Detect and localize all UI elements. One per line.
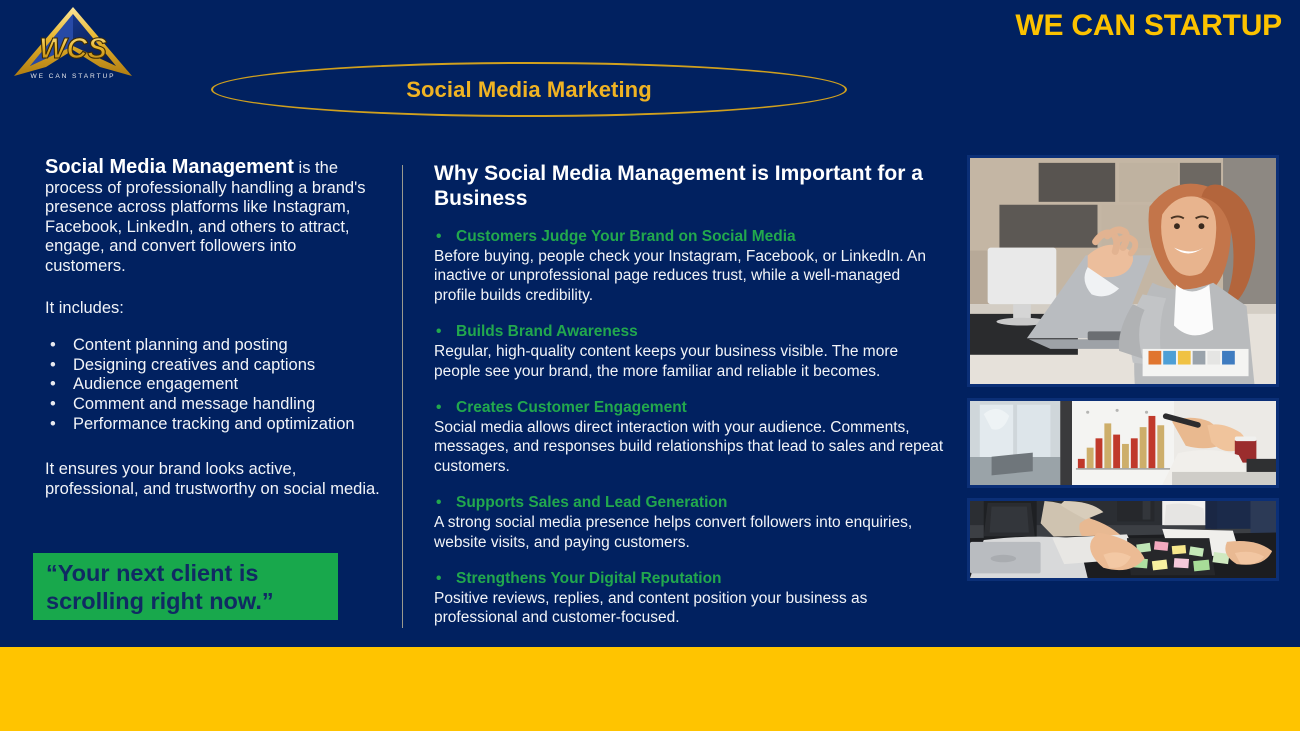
benefit-body: Before buying, people check your Instagr… bbox=[434, 247, 946, 305]
brand-wordmark: WE CAN STARTUP bbox=[1015, 9, 1282, 43]
bullet-icon: • bbox=[436, 493, 441, 512]
wcs-triangle-logo: WCS WE CAN STARTUP bbox=[8, 2, 138, 88]
benefit-point: •Builds Brand Awareness Regular, high-qu… bbox=[434, 322, 946, 381]
photo-woman-at-laptop bbox=[967, 155, 1279, 387]
list-item: •Performance tracking and optimization bbox=[45, 415, 380, 435]
benefit-body: Regular, high-quality content keeps your… bbox=[434, 342, 946, 381]
benefit-title: •Supports Sales and Lead Generation bbox=[434, 493, 946, 512]
bullet-icon: • bbox=[436, 227, 441, 246]
photo-team-sticky-notes bbox=[967, 498, 1279, 581]
list-item: •Comment and message handling bbox=[45, 395, 380, 415]
benefit-point: •Creates Customer Engagement Social medi… bbox=[434, 398, 946, 476]
svg-text:WCS: WCS bbox=[39, 33, 107, 65]
benefit-title-label: Supports Sales and Lead Generation bbox=[456, 494, 727, 511]
list-item-label: Designing creatives and captions bbox=[73, 356, 315, 374]
middle-column: Why Social Media Management is Important… bbox=[434, 161, 946, 628]
benefit-title-label: Builds Brand Awareness bbox=[456, 323, 638, 340]
list-item: •Designing creatives and captions bbox=[45, 356, 380, 376]
list-item-label: Audience engagement bbox=[73, 375, 238, 393]
bottom-accent-bar bbox=[0, 647, 1300, 731]
includes-label: It includes: bbox=[45, 299, 380, 319]
benefit-title-label: Strengthens Your Digital Reputation bbox=[456, 570, 722, 587]
list-item: •Audience engagement bbox=[45, 375, 380, 395]
bullet-icon: • bbox=[50, 336, 56, 356]
wcs-logo: WCS WE CAN STARTUP bbox=[8, 2, 138, 88]
bullet-icon: • bbox=[436, 398, 441, 417]
benefit-point: •Customers Judge Your Brand on Social Me… bbox=[434, 227, 946, 305]
benefit-point: •Strengthens Your Digital Reputation Pos… bbox=[434, 569, 946, 628]
slide-root: WCS WE CAN STARTUP WE CAN STARTUP Social… bbox=[0, 0, 1300, 731]
bullet-icon: • bbox=[436, 569, 441, 588]
benefit-body: Social media allows direct interaction w… bbox=[434, 418, 946, 476]
closing-paragraph: It ensures your brand looks active, prof… bbox=[45, 460, 380, 499]
benefit-title-label: Creates Customer Engagement bbox=[456, 399, 687, 416]
bullet-icon: • bbox=[50, 356, 56, 376]
benefit-title-label: Customers Judge Your Brand on Social Med… bbox=[456, 228, 796, 245]
column-divider bbox=[402, 165, 403, 628]
list-item-label: Performance tracking and optimization bbox=[73, 415, 355, 433]
intro-bold-term: Social Media Management bbox=[45, 156, 294, 178]
list-item-label: Comment and message handling bbox=[73, 395, 315, 413]
bullet-icon: • bbox=[50, 395, 56, 415]
bullet-icon: • bbox=[436, 322, 441, 341]
benefit-body: Positive reviews, replies, and content p… bbox=[434, 589, 946, 628]
photo-bar-chart-presentation bbox=[967, 398, 1279, 488]
slide-title-pill: Social Media Marketing bbox=[211, 62, 847, 117]
bullet-icon: • bbox=[50, 415, 56, 435]
benefit-point: •Supports Sales and Lead Generation A st… bbox=[434, 493, 946, 552]
page-title: Social Media Marketing bbox=[406, 77, 652, 103]
spacer bbox=[45, 277, 380, 299]
photo-team-sticky-notes-image bbox=[970, 501, 1276, 578]
section-heading: Why Social Media Management is Important… bbox=[434, 161, 946, 211]
spacer bbox=[45, 434, 380, 460]
benefit-body: A strong social media presence helps con… bbox=[434, 513, 946, 552]
intro-paragraph: Social Media Management is the process o… bbox=[45, 158, 380, 277]
includes-list: •Content planning and posting •Designing… bbox=[45, 336, 380, 434]
list-item: •Content planning and posting bbox=[45, 336, 380, 356]
svg-text:WE CAN STARTUP: WE CAN STARTUP bbox=[31, 73, 116, 80]
quote-callout: “Your next client is scrolling right now… bbox=[33, 553, 338, 620]
benefit-title: •Strengthens Your Digital Reputation bbox=[434, 569, 946, 588]
benefit-title: •Builds Brand Awareness bbox=[434, 322, 946, 341]
benefit-title: •Customers Judge Your Brand on Social Me… bbox=[434, 227, 946, 246]
photo-bar-chart-image bbox=[970, 401, 1276, 485]
spacer bbox=[45, 318, 380, 336]
list-item-label: Content planning and posting bbox=[73, 336, 288, 354]
benefit-title: •Creates Customer Engagement bbox=[434, 398, 946, 417]
left-column: Social Media Management is the process o… bbox=[45, 158, 380, 499]
quote-text: “Your next client is scrolling right now… bbox=[46, 559, 325, 615]
photo-woman-at-laptop-image bbox=[970, 158, 1276, 384]
bullet-icon: • bbox=[50, 375, 56, 395]
